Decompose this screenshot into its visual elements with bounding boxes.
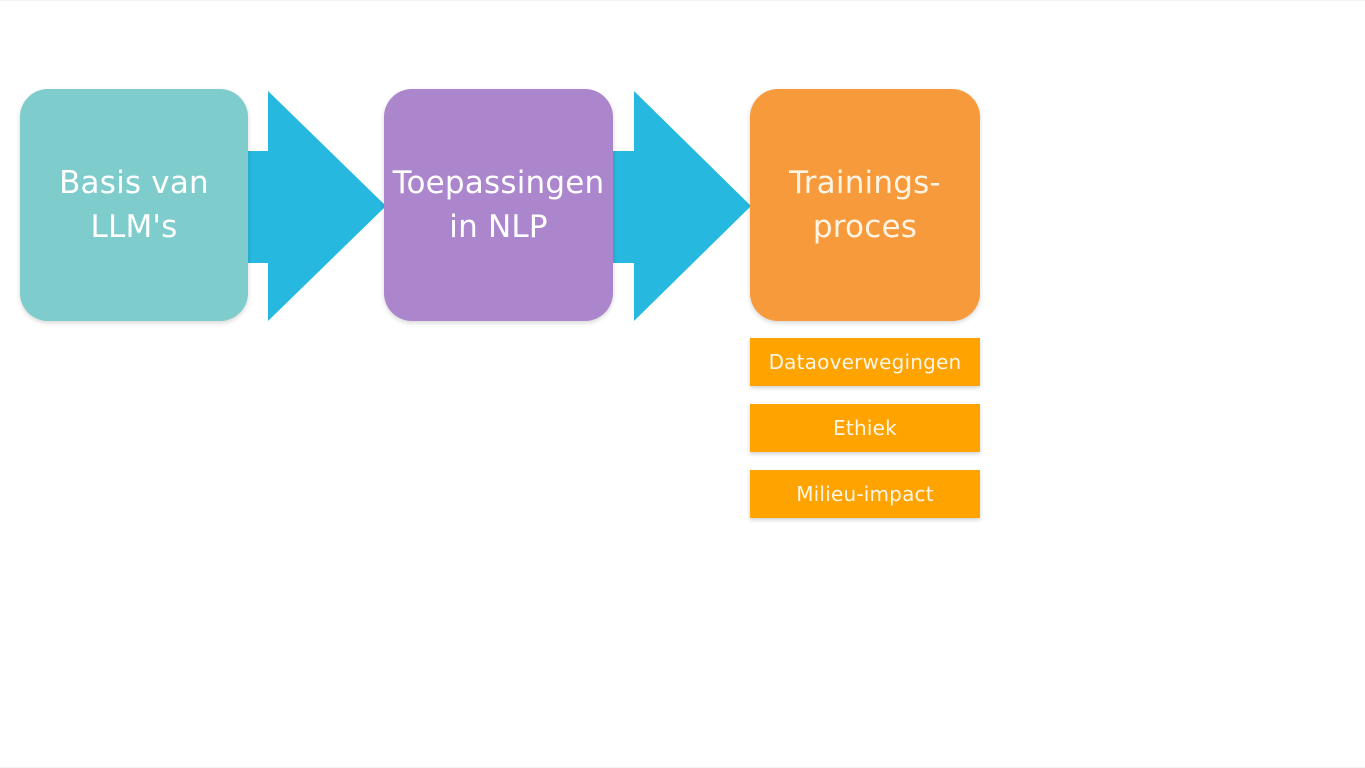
subitem-label-dataoverwegingen: Dataoverwegingen — [769, 350, 962, 374]
subitem-label-ethiek: Ethiek — [833, 416, 897, 440]
subitem-bar-ethiek[interactable]: Ethiek — [750, 404, 980, 452]
arrow-shape — [612, 91, 751, 321]
stage-box-basis-van-llms[interactable]: Basis van LLM's — [20, 89, 248, 321]
subitem-bar-milieu-impact[interactable]: Milieu-impact — [750, 470, 980, 518]
stage-box-trainingsproces[interactable]: Trainings- proces — [750, 89, 980, 321]
arrow-shape — [246, 91, 386, 321]
stage-label-trainingsproces: Trainings- proces — [775, 161, 955, 249]
stage-box-toepassingen-in-nlp[interactable]: Toepassingen in NLP — [384, 89, 613, 321]
arrow-basis-to-toepassingen — [246, 89, 388, 323]
arrow-toepassingen-to-trainingsproces — [612, 89, 752, 323]
stage-label-toepassingen-in-nlp: Toepassingen in NLP — [379, 161, 619, 249]
slide-canvas: Basis van LLM's Toepassingen in NLP Trai… — [0, 0, 1365, 768]
stage-label-basis-van-llms: Basis van LLM's — [45, 161, 223, 249]
subitem-bar-dataoverwegingen[interactable]: Dataoverwegingen — [750, 338, 980, 386]
subitem-label-milieu-impact: Milieu-impact — [796, 482, 934, 506]
